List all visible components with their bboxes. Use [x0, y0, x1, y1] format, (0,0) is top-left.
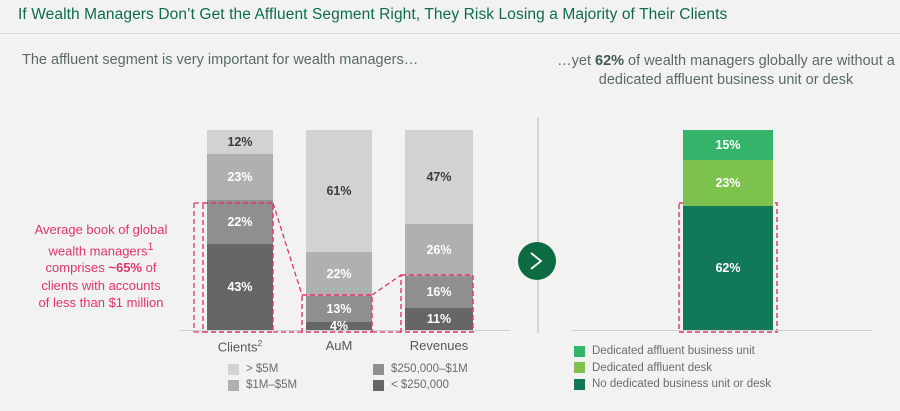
chevron-right-icon	[518, 242, 556, 280]
bar-segment: 16%	[405, 276, 473, 308]
bar-segment-value: 23%	[715, 176, 740, 190]
legend-label-desk: Dedicated affluent desk	[592, 362, 712, 374]
category-label-text: Clients	[218, 339, 258, 354]
stacked-bar-dedication: 15%23%62%	[683, 130, 773, 330]
bar-category-label-revenues: Revenues	[383, 338, 495, 353]
legend-label-1m-5m: $1M–$5M	[246, 379, 297, 391]
stacked-bar-aum: 61%22%13%4%	[306, 130, 372, 330]
left-stacked-bar-chart: 12%23%22%43%Clients261%22%13%4%AuM47%26%…	[0, 0, 537, 411]
bar-segment-value: 26%	[426, 243, 451, 257]
bar-segment: 11%	[405, 308, 473, 330]
bar-segment: 47%	[405, 130, 473, 224]
legend-item-none: No dedicated business unit or desk	[574, 378, 874, 390]
legend-swatch-1m-5m	[228, 380, 239, 391]
bar-segment-value: 15%	[715, 138, 740, 152]
right-subhead-pre: …yet	[557, 53, 595, 69]
legend-label-lt250k: < $250,000	[391, 379, 449, 391]
bar-segment-value: 62%	[715, 261, 740, 275]
bar-segment: 23%	[207, 154, 273, 200]
legend-item-gt5m: > $5M	[228, 363, 373, 375]
bar-segment: 15%	[683, 130, 773, 160]
right-subhead-figure: 62%	[595, 53, 624, 69]
right-chart-legend: Dedicated affluent business unit Dedicat…	[574, 345, 874, 395]
right-subhead-post: of wealth managers globally are without …	[599, 53, 895, 88]
infographic-page: If Wealth Managers Don’t Get the Affluen…	[0, 0, 900, 411]
bar-category-label-clients: Clients2	[185, 338, 295, 354]
bar-segment: 23%	[683, 160, 773, 206]
bar-segment-value: 12%	[227, 135, 252, 149]
legend-swatch-lt250k	[373, 380, 384, 391]
bar-segment-value: 43%	[227, 280, 252, 294]
bar-segment: 26%	[405, 224, 473, 276]
bar-segment: 22%	[207, 200, 273, 244]
legend-swatch-none	[574, 379, 585, 390]
bar-segment: 62%	[683, 206, 773, 330]
section-divider	[537, 118, 539, 333]
legend-item-business-unit: Dedicated affluent business unit	[574, 345, 874, 357]
bar-segment-value: 61%	[326, 184, 351, 198]
legend-row: > $5M $250,000–$1M	[228, 363, 518, 375]
bar-segment: 4%	[306, 322, 372, 330]
right-chart-baseline	[572, 330, 872, 331]
bar-category-label-aum: AuM	[284, 338, 394, 353]
bar-segment-value: 22%	[326, 267, 351, 281]
category-footnote-marker: 2	[258, 338, 263, 348]
bar-segment-value: 11%	[427, 312, 451, 326]
legend-item-desk: Dedicated affluent desk	[574, 362, 874, 374]
legend-row: $1M–$5M < $250,000	[228, 379, 518, 391]
legend-label-none: No dedicated business unit or desk	[592, 378, 771, 390]
legend-swatch-gt5m	[228, 364, 239, 375]
legend-swatch-business-unit	[574, 346, 585, 357]
stacked-bar-clients: 12%23%22%43%	[207, 130, 273, 330]
legend-item-lt250k: < $250,000	[373, 379, 518, 391]
legend-label-250k-1m: $250,000–$1M	[391, 363, 468, 375]
legend-swatch-desk	[574, 362, 585, 373]
bar-segment-value: 47%	[426, 170, 451, 184]
category-label-text: Revenues	[410, 338, 469, 353]
left-chart-legend: > $5M $250,000–$1M $1M–$5M < $250,000	[228, 363, 518, 395]
right-subhead: …yet 62% of wealth managers globally are…	[556, 52, 896, 90]
stacked-bar-revenues: 47%26%16%11%	[405, 130, 473, 330]
bar-segment: 22%	[306, 252, 372, 296]
bar-segment: 12%	[207, 130, 273, 154]
bar-segment-value: 23%	[227, 170, 252, 184]
bar-segment-value: 16%	[426, 285, 451, 299]
legend-label-gt5m: > $5M	[246, 363, 278, 375]
bar-segment: 61%	[306, 130, 372, 252]
bar-segment-value: 13%	[326, 302, 351, 316]
category-label-text: AuM	[326, 338, 353, 353]
legend-swatch-250k-1m	[373, 364, 384, 375]
legend-item-250k-1m: $250,000–$1M	[373, 363, 518, 375]
bar-segment-value: 22%	[227, 215, 252, 229]
bar-segment: 43%	[207, 244, 273, 330]
bar-segment-value: 4%	[330, 319, 348, 333]
legend-label-business-unit: Dedicated affluent business unit	[592, 345, 755, 357]
legend-item-1m-5m: $1M–$5M	[228, 379, 373, 391]
